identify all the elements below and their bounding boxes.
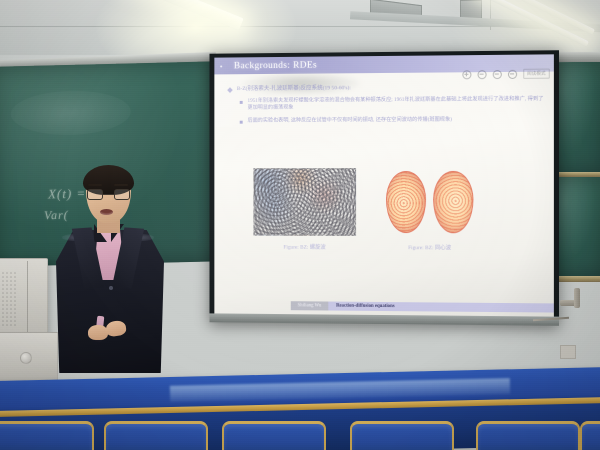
- pdf-toolbar[interactable]: 阅读模式: [462, 69, 550, 80]
- footer-topic: Reaction-diffusion equations: [328, 302, 554, 313]
- slide-title: Backgrounds: RDEs: [222, 60, 317, 71]
- sub-bullet-list: 1951年别洛索夫发现柠檬酸化学溶液的混合物会有某种振荡反应; 1961年扎波廷…: [240, 96, 544, 125]
- door-handle-vertical[interactable]: [574, 288, 580, 308]
- lecture-hall-photo: X(t) = Var( Backgrounds: RDEs 阅读模式: [0, 0, 600, 450]
- bullet-text: B-Z(别洛索夫-扎波廷斯基)反应系统(19 50-60's):: [237, 84, 351, 93]
- slide-figures: Figure: BZ: 螺旋波 Figure: BZ: 同心波: [253, 168, 545, 252]
- presenter: [48, 168, 172, 373]
- speaker-grill: [1, 271, 17, 327]
- concentric-oval-left: [386, 171, 426, 233]
- glasses-icon: [87, 189, 130, 200]
- square-bullet-icon: [240, 121, 243, 124]
- lens-right: [114, 189, 130, 200]
- wall-plate: [560, 345, 576, 359]
- eyebrow-right: [114, 184, 128, 186]
- presentation-slide: Backgrounds: RDEs 阅读模式 B-Z(别洛索夫-扎波廷斯基)反应…: [214, 54, 554, 316]
- coat-button: [109, 286, 113, 290]
- zoom-out-icon[interactable]: [477, 70, 486, 79]
- square-bullet-icon: [240, 101, 243, 104]
- concentric-wave-image: [386, 168, 473, 236]
- zoom-in-icon[interactable]: [462, 70, 471, 79]
- eyebrow-left: [88, 184, 102, 186]
- board-smudge: [10, 89, 131, 136]
- bullet-item: B-Z(别洛索夫-扎波廷斯基)反应系统(19 50-60's):: [228, 83, 544, 93]
- figure-spiral-wave: Figure: BZ: 螺旋波: [253, 168, 356, 251]
- figure-caption: Figure: BZ: 同心波: [408, 243, 451, 251]
- figure-concentric-wave: Figure: BZ: 同心波: [386, 168, 473, 252]
- projection-screen: Backgrounds: RDEs 阅读模式 B-Z(别洛索夫-扎波廷斯基)反应…: [209, 50, 559, 326]
- sub-bullet-text: 后面的实验也表明, 这种反应在试管中不仅有时间的振动, 还存在空间波动的传播(斑…: [248, 116, 452, 124]
- seat-back: [476, 421, 580, 450]
- screen-surface: Backgrounds: RDEs 阅读模式 B-Z(别洛索夫-扎波廷斯基)反应…: [214, 54, 554, 316]
- seat-back: [580, 421, 600, 450]
- fit-page-icon[interactable]: [492, 69, 501, 78]
- reading-mode-button[interactable]: 阅读模式: [523, 69, 550, 79]
- speaker-seam: [27, 261, 28, 335]
- glasses-bridge: [103, 194, 114, 195]
- diamond-bullet-icon: [227, 87, 233, 93]
- concentric-oval-right: [433, 171, 473, 233]
- figure-caption: Figure: BZ: 螺旋波: [283, 243, 325, 251]
- seat-back: [0, 421, 94, 450]
- fit-width-icon[interactable]: [508, 69, 517, 78]
- podium-knob[interactable]: [20, 352, 32, 364]
- sub-bullet-text: 1951年别洛索夫发现柠檬酸化学溶液的混合物会有某种振荡反应; 1961年扎波廷…: [248, 96, 544, 113]
- spiral-wave-image: [253, 168, 356, 236]
- lens-left: [87, 189, 103, 200]
- seat-back: [350, 421, 454, 450]
- slide-body: B-Z(别洛索夫-扎波廷斯基)反应系统(19 50-60's): 1951年别洛…: [228, 83, 544, 130]
- slide-footer: Shiliang Wu Reaction-diffusion equations: [214, 301, 554, 313]
- seat-back: [104, 421, 208, 450]
- speaker-cabinet: [0, 258, 48, 336]
- footer-author: Shiliang Wu: [291, 301, 328, 310]
- mouth: [100, 209, 113, 215]
- sub-bullet-item: 后面的实验也表明, 这种反应在试管中不仅有时间的振动, 还存在空间波动的传播(斑…: [240, 116, 544, 125]
- sub-bullet-item: 1951年别洛索夫发现柠檬酸化学溶液的混合物会有某种振荡反应; 1961年扎波廷…: [240, 96, 544, 113]
- seat-back: [222, 421, 326, 450]
